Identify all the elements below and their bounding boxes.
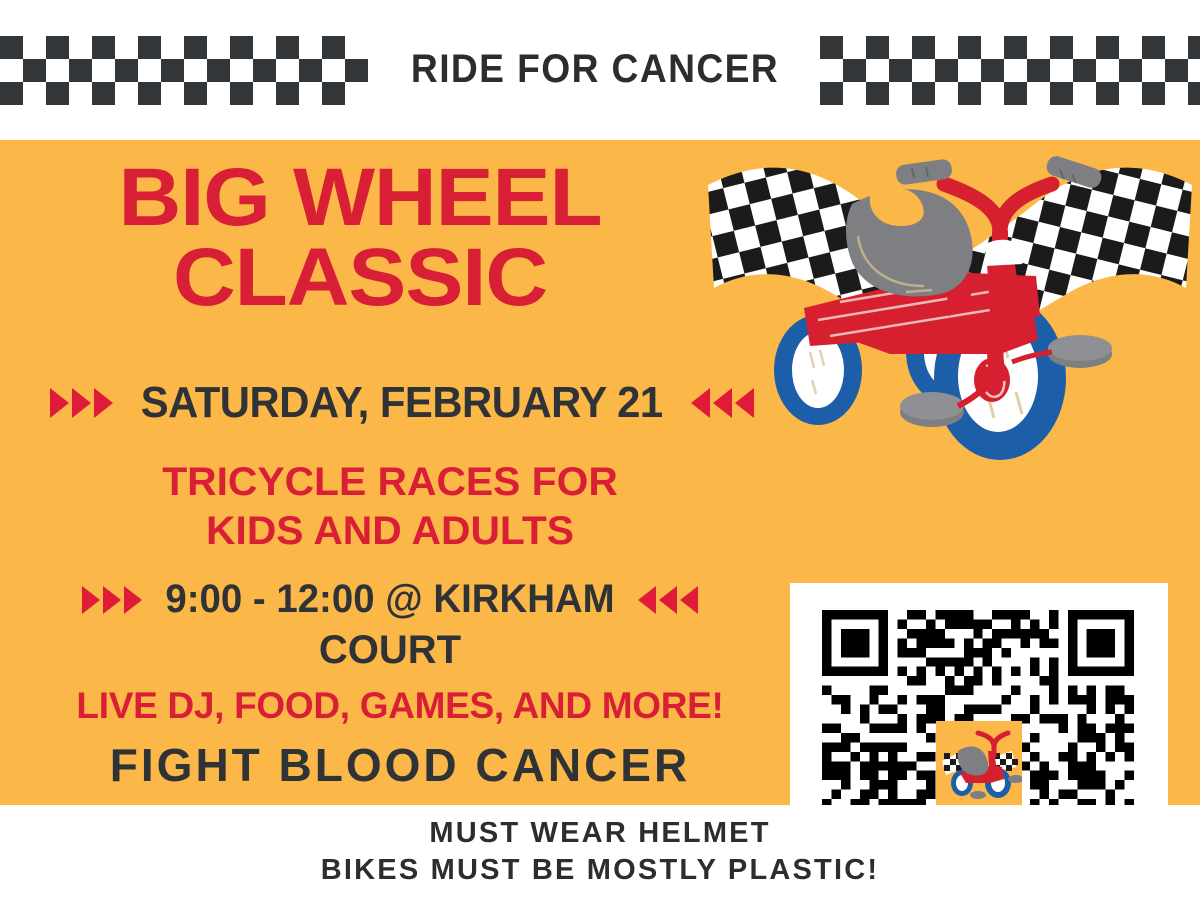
- arrows-right-group: [50, 388, 113, 418]
- event-location-line-2: COURT: [10, 628, 770, 673]
- checker-cell: [1004, 36, 1027, 59]
- checker-cell: [1096, 59, 1119, 82]
- event-title: BIG WHEEL CLASSIC: [0, 158, 720, 319]
- checker-cell: [935, 36, 958, 59]
- checker-cell: [345, 82, 368, 105]
- checker-cell: [322, 59, 345, 82]
- checker-cell: [46, 36, 69, 59]
- checker-cell: [161, 82, 184, 105]
- header-banner: RIDE FOR CANCER: [0, 0, 1200, 140]
- checker-cell: [0, 36, 23, 59]
- triangle-left-icon: [638, 586, 656, 614]
- checker-cell: [345, 36, 368, 59]
- checker-cell: [253, 82, 276, 105]
- checker-cell: [322, 82, 345, 105]
- checker-cell: [1165, 59, 1188, 82]
- checker-cell: [138, 36, 161, 59]
- subheading-line-1: TRICYCLE RACES FOR: [13, 458, 768, 507]
- checker-cell: [1165, 36, 1188, 59]
- checker-cell: [138, 59, 161, 82]
- checker-cell: [207, 59, 230, 82]
- checker-row: [820, 82, 1200, 105]
- triangle-right-icon: [72, 388, 91, 418]
- checker-cell: [1004, 59, 1027, 82]
- checker-cell: [0, 82, 23, 105]
- checker-cell: [69, 36, 92, 59]
- arrows-left-group: [638, 586, 698, 614]
- checker-cell: [1027, 36, 1050, 59]
- checker-cell: [820, 59, 843, 82]
- event-date-row: SATURDAY, FEBRUARY 21: [12, 378, 792, 428]
- triangle-right-icon: [94, 388, 113, 418]
- checker-cell: [1073, 82, 1096, 105]
- checker-cell: [912, 59, 935, 82]
- checker-cell: [299, 59, 322, 82]
- triangle-right-icon: [82, 586, 100, 614]
- checker-cell: [69, 59, 92, 82]
- checker-cell: [46, 82, 69, 105]
- checker-cell: [1119, 59, 1142, 82]
- checker-row: [0, 59, 372, 82]
- header-title: RIDE FOR CANCER: [395, 40, 795, 100]
- checker-cell: [889, 36, 912, 59]
- checker-cell: [958, 36, 981, 59]
- checker-cell: [1096, 82, 1119, 105]
- checker-cell: [92, 36, 115, 59]
- checker-cell: [345, 59, 368, 82]
- checker-cell: [958, 82, 981, 105]
- checker-cell: [184, 36, 207, 59]
- triangle-right-icon: [103, 586, 121, 614]
- triangle-right-icon: [50, 388, 69, 418]
- checkered-flag-strip-right: [820, 36, 1200, 105]
- event-cause: FIGHT BLOOD CANCER: [10, 738, 790, 792]
- checker-cell: [299, 36, 322, 59]
- checker-cell: [1142, 36, 1165, 59]
- event-perks-text: LIVE DJ, FOOD, GAMES, AND MORE!: [76, 685, 723, 727]
- checker-cell: [276, 59, 299, 82]
- checker-cell: [981, 59, 1004, 82]
- checker-cell: [0, 59, 23, 82]
- event-title-line-2: CLASSIC: [0, 238, 742, 318]
- triangle-left-icon: [680, 586, 698, 614]
- checker-cell: [253, 36, 276, 59]
- poster-body: BIG WHEEL CLASSIC SATURDAY, FEBRUARY 21 …: [0, 140, 1200, 805]
- checker-cell: [820, 36, 843, 59]
- checker-cell: [92, 82, 115, 105]
- checker-cell: [23, 59, 46, 82]
- checker-cell: [1050, 59, 1073, 82]
- qr-center-logo: [936, 721, 1022, 805]
- arrows-right-group: [82, 586, 142, 614]
- checker-cell: [184, 59, 207, 82]
- event-time-location-block: 9:00 - 12:00 @ KIRKHAM COURT: [10, 577, 770, 673]
- checker-cell: [138, 82, 161, 105]
- checker-cell: [912, 82, 935, 105]
- checker-cell: [820, 82, 843, 105]
- checker-cell: [843, 36, 866, 59]
- checker-cell: [276, 82, 299, 105]
- checker-cell: [1119, 36, 1142, 59]
- checker-cell: [253, 59, 276, 82]
- event-date: SATURDAY, FEBRUARY 21: [141, 378, 663, 428]
- checker-cell: [843, 59, 866, 82]
- checker-cell: [92, 59, 115, 82]
- checker-cell: [115, 82, 138, 105]
- checker-cell: [843, 82, 866, 105]
- checker-cell: [207, 82, 230, 105]
- checker-cell: [1142, 82, 1165, 105]
- triangle-left-icon: [659, 586, 677, 614]
- checker-row: [820, 59, 1200, 82]
- checker-cell: [1073, 36, 1096, 59]
- checkered-flag-strip-left: [0, 36, 372, 105]
- checker-cell: [23, 82, 46, 105]
- checker-cell: [230, 59, 253, 82]
- tricycle-illustration: [700, 140, 1200, 460]
- checker-cell: [1073, 59, 1096, 82]
- checker-row: [820, 36, 1200, 59]
- checker-cell: [866, 36, 889, 59]
- checker-cell: [1188, 36, 1200, 59]
- footer-notes: MUST WEAR HELMET BIKES MUST BE MOSTLY PL…: [0, 805, 1200, 900]
- checker-cell: [46, 59, 69, 82]
- event-perks: LIVE DJ, FOOD, GAMES, AND MORE!: [10, 685, 790, 727]
- checker-cell: [184, 82, 207, 105]
- checker-cell: [1142, 59, 1165, 82]
- checker-row: [0, 82, 372, 105]
- checker-cell: [981, 36, 1004, 59]
- checker-cell: [981, 82, 1004, 105]
- footer-line-1: MUST WEAR HELMET: [0, 815, 1200, 852]
- subheading-line-2: KIDS AND ADULTS: [13, 507, 768, 556]
- checker-cell: [69, 82, 92, 105]
- footer-line-2: BIKES MUST BE MOSTLY PLASTIC!: [0, 852, 1200, 889]
- triangle-right-icon: [124, 586, 142, 614]
- checker-cell: [115, 59, 138, 82]
- checker-cell: [1050, 36, 1073, 59]
- checker-row: [0, 36, 372, 59]
- checker-cell: [935, 59, 958, 82]
- checker-cell: [866, 59, 889, 82]
- event-subheading: TRICYCLE RACES FOR KIDS AND ADULTS: [20, 458, 760, 556]
- checker-cell: [1027, 59, 1050, 82]
- checker-cell: [866, 82, 889, 105]
- event-time-location: 9:00 - 12:00 @ KIRKHAM: [165, 577, 614, 622]
- event-time-location-row: 9:00 - 12:00 @ KIRKHAM: [10, 577, 770, 622]
- checker-cell: [23, 36, 46, 59]
- checker-cell: [935, 82, 958, 105]
- checker-cell: [1119, 82, 1142, 105]
- checker-cell: [1004, 82, 1027, 105]
- checker-cell: [230, 36, 253, 59]
- checker-cell: [1027, 82, 1050, 105]
- checker-cell: [299, 82, 322, 105]
- checker-cell: [1096, 36, 1119, 59]
- checker-cell: [161, 36, 184, 59]
- checker-cell: [1050, 82, 1073, 105]
- checker-cell: [276, 36, 299, 59]
- checker-cell: [889, 59, 912, 82]
- checker-cell: [958, 59, 981, 82]
- checker-cell: [889, 82, 912, 105]
- checker-cell: [1188, 82, 1200, 105]
- checker-cell: [161, 59, 184, 82]
- checker-cell: [230, 82, 253, 105]
- checker-cell: [115, 36, 138, 59]
- checker-cell: [912, 36, 935, 59]
- event-title-line-1: BIG WHEEL: [0, 158, 742, 238]
- qr-code-panel[interactable]: [790, 583, 1168, 805]
- checker-cell: [1188, 59, 1200, 82]
- checker-cell: [322, 36, 345, 59]
- checker-cell: [207, 36, 230, 59]
- checker-cell: [1165, 82, 1188, 105]
